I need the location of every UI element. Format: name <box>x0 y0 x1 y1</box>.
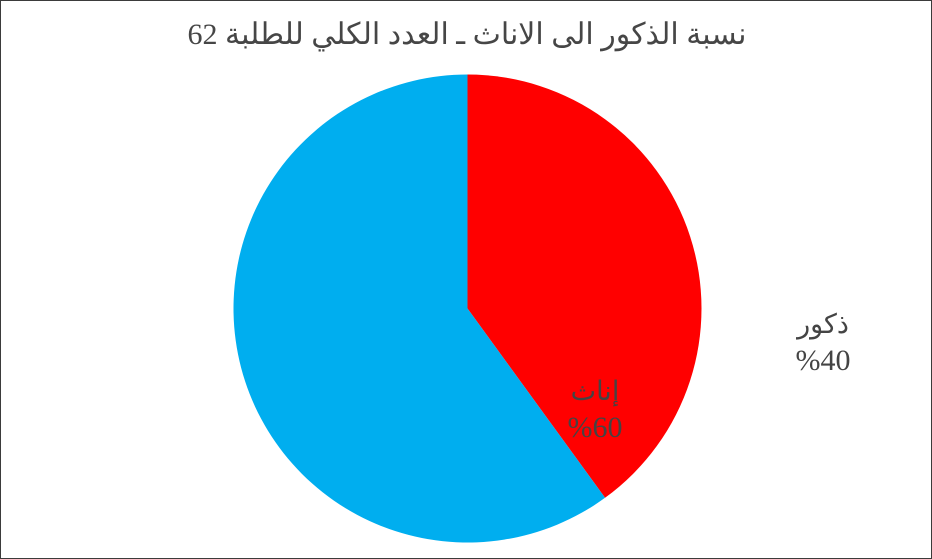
pie-slice-label-males: ذكور %40 <box>748 306 898 380</box>
chart-title: نسبة الذكور الى الاناث ـ العدد الكلي للط… <box>1 15 932 55</box>
pie-slice-label-males-percent: %40 <box>748 342 898 380</box>
chart-figure: نسبة الذكور الى الاناث ـ العدد الكلي للط… <box>0 0 932 559</box>
pie-chart-plot-area: ذكور %40 إناث %60 <box>233 74 702 543</box>
pie-svg <box>233 74 702 543</box>
pie-slice-label-males-name: ذكور <box>797 309 849 339</box>
